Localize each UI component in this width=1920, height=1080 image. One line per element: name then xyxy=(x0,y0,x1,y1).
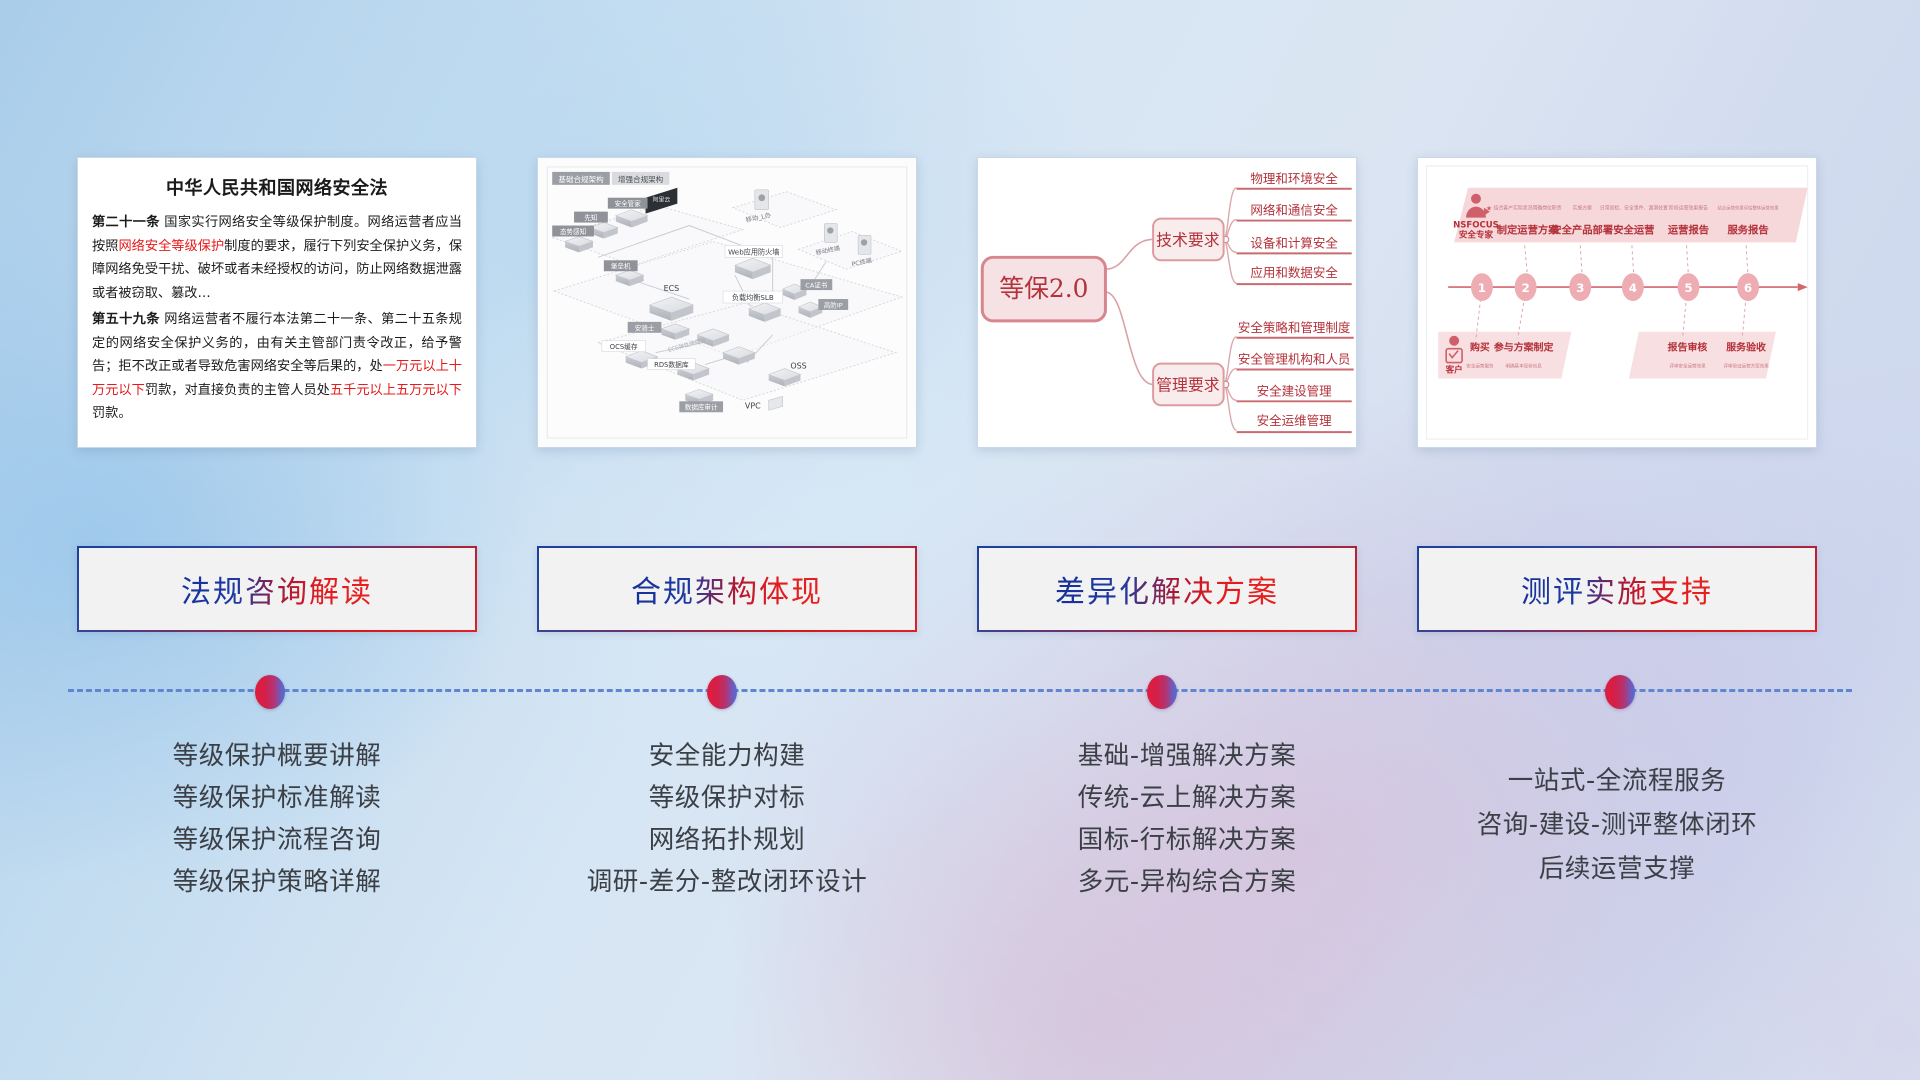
architecture-diagram: 基础合规架构 增强合规架构 阿里云 安全管家 xyxy=(538,158,916,447)
law-run-highlight: 五千元以上五万元以下 xyxy=(330,383,462,398)
list-item: 安全能力构建 xyxy=(517,735,937,777)
timeline-dot-2[interactable] xyxy=(1147,675,1177,709)
flow-bottom-step-title-3: 服务验收 xyxy=(1726,341,1766,354)
mindmap-root: 等保2.0 xyxy=(982,257,1105,321)
flow-step-number-1: 2 xyxy=(1521,281,1529,295)
mindmap-leaf-0-0: 物理和环境安全 xyxy=(1250,171,1338,186)
mindmap-leaf-0-2: 设备和计算安全 xyxy=(1250,235,1338,250)
timeline-dashed-line xyxy=(68,689,1852,692)
law-title: 中华人民共和国网络安全法 xyxy=(92,174,462,200)
flow-top-step-sub-4: 结合运营效果评估整体运营效果 xyxy=(1718,205,1780,212)
svg-text:★: ★ xyxy=(1486,205,1492,213)
mindmap-branch-management: 管理要求 xyxy=(1153,364,1224,406)
mindmap-leaf-0-1: 网络和通信安全 xyxy=(1250,203,1338,218)
timeline-dot-0[interactable] xyxy=(255,675,285,709)
arch-node-10: ECS xyxy=(664,284,680,293)
arch-node-5: Web应用防火墙 xyxy=(728,247,779,256)
section-title-label-3: 测评实施支持 xyxy=(1521,567,1713,611)
list-item: 等级保护概要讲解 xyxy=(77,735,477,777)
arch-node-1: 先知 xyxy=(584,213,597,222)
arch-tab-1: 增强合规架构 xyxy=(618,174,664,184)
list-item: 调研-差分-整改闭环设计 xyxy=(517,861,937,903)
service-flow-diagram: ★ NSFOCUS 安全专家 客户 制定运营方案 结合客户实际状况明确岗位职责 … xyxy=(1418,158,1816,447)
list-item: 等级保护对标 xyxy=(517,777,937,819)
list-item: 多元-异构综合方案 xyxy=(997,861,1377,903)
section-items-2: 基础-增强解决方案 传统-云上解决方案 国标-行标解决方案 多元-异构综合方案 xyxy=(997,735,1377,903)
section-items-3: 一站式-全流程服务 咨询-建设-测评整体闭环 后续运营支撑 xyxy=(1397,735,1837,892)
section-title-label-2: 差异化解决方案 xyxy=(1055,567,1279,611)
flow-bottom-step-title-2: 报告审核 xyxy=(1668,341,1708,354)
law-paragraph-2: 第五十九条 网络运营者不履行本法第二十一条、第二十五条规定的网络安全保护义务的，… xyxy=(92,308,462,426)
law-article-number-1: 第二十一条 xyxy=(92,215,160,230)
arch-node-0: 安全管家 xyxy=(615,199,642,208)
arch-node-16: OSS xyxy=(790,362,806,371)
list-item: 传统-云上解决方案 xyxy=(997,777,1377,819)
section-titles-row: 法规咨询解读 合规架构体现 差异化解决方案 测评实施支持 xyxy=(0,546,1920,636)
list-item: 咨询-建设-测评整体闭环 xyxy=(1397,804,1837,848)
section-title-label-0: 法规咨询解读 xyxy=(181,567,373,611)
mindmap-root-label: 等保2.0 xyxy=(999,274,1088,303)
mindmap-branch-technical: 技术要求 xyxy=(1153,219,1224,261)
flow-bottom-step-sub-0: 安全运营服务 xyxy=(1466,363,1494,370)
mindmap-diagram: 等保2.0 技术要求 管理要求 物理和环境安全 网络和通信安全 设备和计算安全 … xyxy=(978,158,1356,447)
flow-step-number-0: 1 xyxy=(1478,281,1486,295)
arch-cloud-label: 阿里云 xyxy=(653,196,671,204)
list-item: 等级保护标准解读 xyxy=(77,777,477,819)
section-title-box-0[interactable]: 法规咨询解读 xyxy=(77,546,477,632)
section-items-0: 等级保护概要讲解 等级保护标准解读 等级保护流程咨询 等级保护策略详解 xyxy=(77,735,477,903)
section-items-row: 等级保护概要讲解 等级保护标准解读 等级保护流程咨询 等级保护策略详解 安全能力… xyxy=(0,735,1920,965)
list-item: 后续运营支撑 xyxy=(1397,848,1837,892)
flow-top-step-title-2: 安全运营 xyxy=(1613,223,1654,236)
flow-bottom-step-sub-1: 明确基本现状信息 xyxy=(1505,363,1542,370)
flow-step-number-3: 4 xyxy=(1629,281,1637,295)
card-nsfocus-service-flow[interactable]: ★ NSFOCUS 安全专家 客户 制定运营方案 结合客户实际状况明确岗位职责 … xyxy=(1417,157,1817,448)
mindmap-leaf-1-1: 安全管理机构和人员 xyxy=(1238,352,1351,367)
arch-node-9: 高防IP xyxy=(824,300,843,309)
timeline-dot-3[interactable] xyxy=(1605,675,1635,709)
flow-step-number-2: 3 xyxy=(1576,281,1584,295)
flow-bottom-step-sub-3: 评审验证运营方案效果 xyxy=(1723,363,1769,370)
timeline xyxy=(0,660,1920,720)
flow-top-step-sub-0: 结合客户实际状况明确岗位职责 xyxy=(1494,205,1562,212)
arch-node-14: RDS数据库 xyxy=(654,360,689,369)
flow-top-step-sub-2: 日常巡检、安全事件、漏洞处置 xyxy=(1600,205,1668,212)
card-cybersecurity-law[interactable]: 中华人民共和国网络安全法 第二十一条 国家实行网络安全等级保护制度。网络运营者应… xyxy=(77,157,477,448)
flow-top-actor-line2: 安全专家 xyxy=(1459,228,1494,240)
arch-tab-0: 基础合规架构 xyxy=(558,174,604,184)
flow-top-step-sub-1: 实施方案 xyxy=(1573,205,1593,212)
list-item: 基础-增强解决方案 xyxy=(997,735,1377,777)
law-paragraph-1: 第二十一条 国家实行网络安全等级保护制度。网络运营者应当按照网络安全等级保护制度… xyxy=(92,211,462,305)
list-item: 网络拓扑规划 xyxy=(517,819,937,861)
section-title-box-1[interactable]: 合规架构体现 xyxy=(537,546,917,632)
flow-top-step-title-1: 安全产品部署 xyxy=(1551,223,1613,236)
flow-step-number-5: 6 xyxy=(1744,281,1752,295)
law-run-highlight: 网络安全等级保护 xyxy=(118,239,224,254)
section-title-label-1: 合规架构体现 xyxy=(631,567,823,611)
section-items-1: 安全能力构建 等级保护对标 网络拓扑规划 调研-差分-整改闭环设计 xyxy=(517,735,937,903)
arch-node-3: 堡垒机 xyxy=(611,262,631,271)
mindmap-leaf-1-3: 安全运维管理 xyxy=(1257,413,1333,428)
mindmap-branch-label-0: 技术要求 xyxy=(1156,230,1220,249)
list-item: 一站式-全流程服务 xyxy=(1397,760,1837,804)
arch-node-2: 态势感知 xyxy=(560,227,586,236)
mindmap-leaf-1-0: 安全策略和管理制度 xyxy=(1238,320,1351,335)
flow-top-step-title-4: 服务报告 xyxy=(1727,223,1768,236)
law-run: 罚款，对直接负责的主管人员处 xyxy=(145,383,330,398)
arch-node-12: 负载均衡SLB xyxy=(732,293,774,302)
flow-bottom-band-right xyxy=(1629,332,1776,379)
arch-node-13: OCS缓存 xyxy=(610,342,638,351)
cards-row: 中华人民共和国网络安全法 第二十一条 国家实行网络安全等级保护制度。网络运营者应… xyxy=(0,0,1920,460)
arch-node-17: VPC xyxy=(745,401,761,410)
arch-node-8: CA证书 xyxy=(805,281,828,290)
arch-node-11: 安骑士 xyxy=(635,323,655,332)
timeline-dot-1[interactable] xyxy=(707,675,737,709)
flow-top-step-title-3: 运营报告 xyxy=(1668,223,1709,236)
card-compliance-architecture[interactable]: 基础合规架构 增强合规架构 阿里云 安全管家 xyxy=(537,157,917,448)
flow-bottom-actor: 客户 xyxy=(1445,364,1463,376)
flow-top-actor-line1: NSFOCUS xyxy=(1453,221,1499,231)
list-item: 国标-行标解决方案 xyxy=(997,819,1377,861)
section-title-box-3[interactable]: 测评实施支持 xyxy=(1417,546,1817,632)
mindmap-leaf-0-3: 应用和数据安全 xyxy=(1250,265,1338,280)
flow-bottom-step-title-0: 购买 xyxy=(1470,341,1490,354)
mindmap-leaf-1-2: 安全建设管理 xyxy=(1257,383,1333,398)
law-article-number-2: 第五十九条 xyxy=(92,312,160,327)
flow-bottom-step-sub-2: 评审安全运营效果 xyxy=(1669,363,1706,370)
flow-top-step-sub-3: 阶段运营效果报告 xyxy=(1669,205,1708,212)
mindmap-branch-label-1: 管理要求 xyxy=(1156,375,1220,394)
list-item: 等级保护流程咨询 xyxy=(77,819,477,861)
law-run: 罚款。 xyxy=(92,406,132,421)
card-mindmap-dengbao[interactable]: 等保2.0 技术要求 管理要求 物理和环境安全 网络和通信安全 设备和计算安全 … xyxy=(977,157,1357,448)
section-title-box-2[interactable]: 差异化解决方案 xyxy=(977,546,1357,632)
list-item: 等级保护策略详解 xyxy=(77,861,477,903)
flow-top-step-title-0: 制定运营方案 xyxy=(1497,223,1560,236)
flow-step-number-4: 5 xyxy=(1684,281,1692,295)
flow-bottom-step-title-1: 参与方案制定 xyxy=(1494,341,1554,354)
arch-node-15: 数据库审计 xyxy=(685,403,718,412)
